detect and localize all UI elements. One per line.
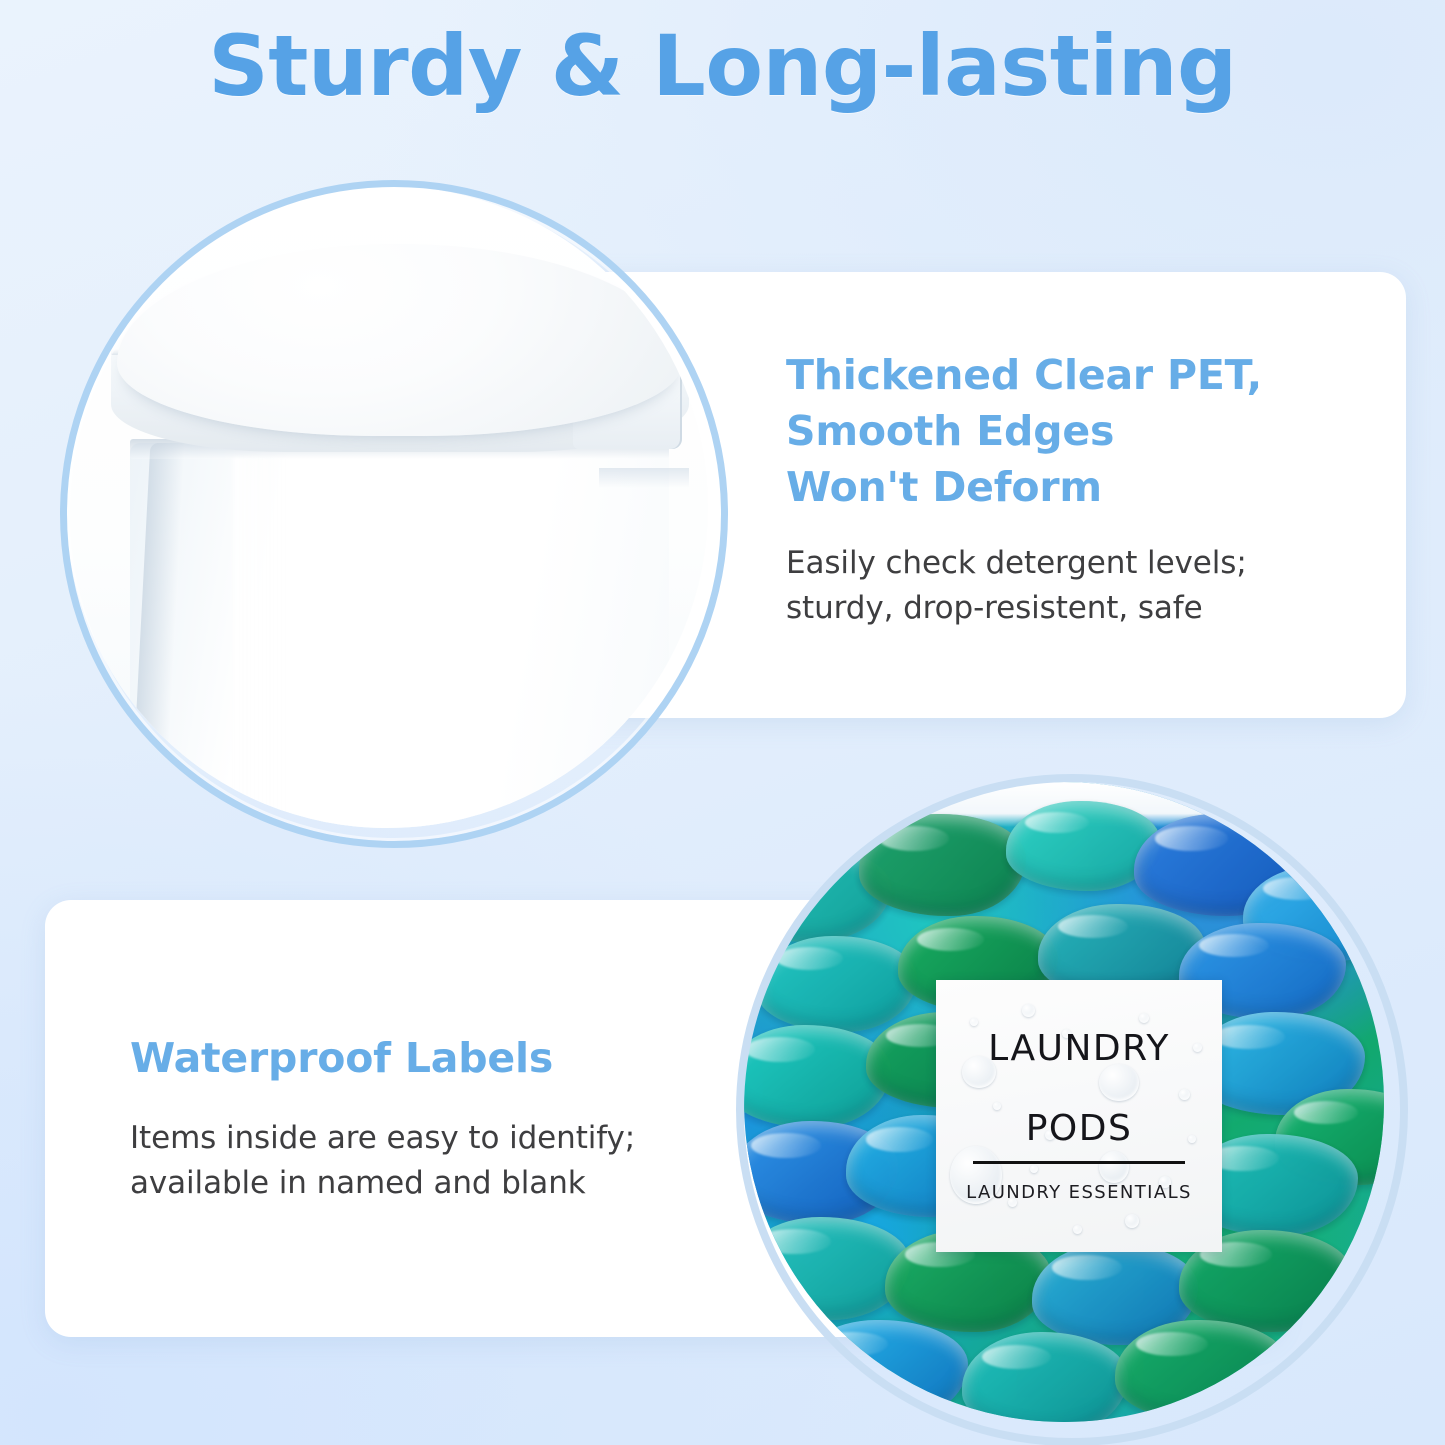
jar-body-shape <box>130 443 669 828</box>
label-tagline: LAUNDRY ESSENTIALS <box>966 1184 1192 1202</box>
water-drop <box>1139 1013 1149 1023</box>
water-drop <box>993 1102 1001 1110</box>
product-label-sticker: LAUNDRY PODS LAUNDRY ESSENTIALS <box>936 980 1222 1252</box>
label-divider <box>973 1161 1185 1164</box>
feature-body-clear-pet: Easily check detergent levels; sturdy, d… <box>786 541 1326 631</box>
label-line-1: LAUNDRY <box>988 1031 1170 1067</box>
lid-top-shape <box>117 244 682 437</box>
feature-title-line-1: Thickened Clear PET, <box>786 351 1262 399</box>
water-drop <box>1188 1135 1196 1143</box>
feature-text-waterproof-labels: Waterproof Labels Items inside are easy … <box>130 1030 730 1206</box>
pod-shape <box>795 1320 968 1422</box>
feature-body-waterproof-labels: Items inside are easy to identify; avail… <box>130 1116 730 1206</box>
feature-body-line-2: available in named and blank <box>130 1165 586 1201</box>
label-line-2: PODS <box>1026 1111 1133 1147</box>
pod-shape <box>962 1332 1128 1422</box>
water-drop <box>1099 1151 1129 1183</box>
water-drop <box>1030 1165 1038 1173</box>
pod-shape <box>757 936 917 1032</box>
pod-shape <box>859 814 1025 916</box>
water-drop <box>1099 1064 1139 1101</box>
feature-title-waterproof-labels: Waterproof Labels <box>130 1030 730 1086</box>
water-drop <box>970 1018 978 1026</box>
water-drop <box>1125 1214 1139 1228</box>
pod-shape <box>1115 1320 1288 1422</box>
pod-shape <box>744 1217 910 1319</box>
water-drop <box>1022 1004 1035 1017</box>
infographic-canvas: Sturdy & Long-lasting Thickened Clear PE… <box>0 0 1445 1445</box>
feature-text-clear-pet: Thickened Clear PET, Smooth Edges Won't … <box>786 347 1326 631</box>
feature-title-line-3: Won't Deform <box>786 463 1102 511</box>
lid-photo-illustration <box>66 186 708 828</box>
feature-title-line-2: Smooth Edges <box>786 407 1114 455</box>
page-title: Sturdy & Long-lasting <box>0 24 1445 108</box>
jar-shoulder-shape <box>599 468 689 487</box>
product-photo-container-lid <box>66 186 708 828</box>
water-drop <box>1073 1225 1082 1234</box>
feature-body-line-1: Items inside are easy to identify; <box>130 1120 635 1156</box>
water-drop <box>1193 1043 1202 1052</box>
feature-body-line-1: Easily check detergent levels; <box>786 545 1247 581</box>
jar-highlight-shape <box>233 456 291 828</box>
feature-title-clear-pet: Thickened Clear PET, Smooth Edges Won't … <box>786 347 1326 515</box>
water-drop <box>1179 1089 1190 1100</box>
feature-body-line-2: sturdy, drop-resistent, safe <box>786 590 1203 626</box>
